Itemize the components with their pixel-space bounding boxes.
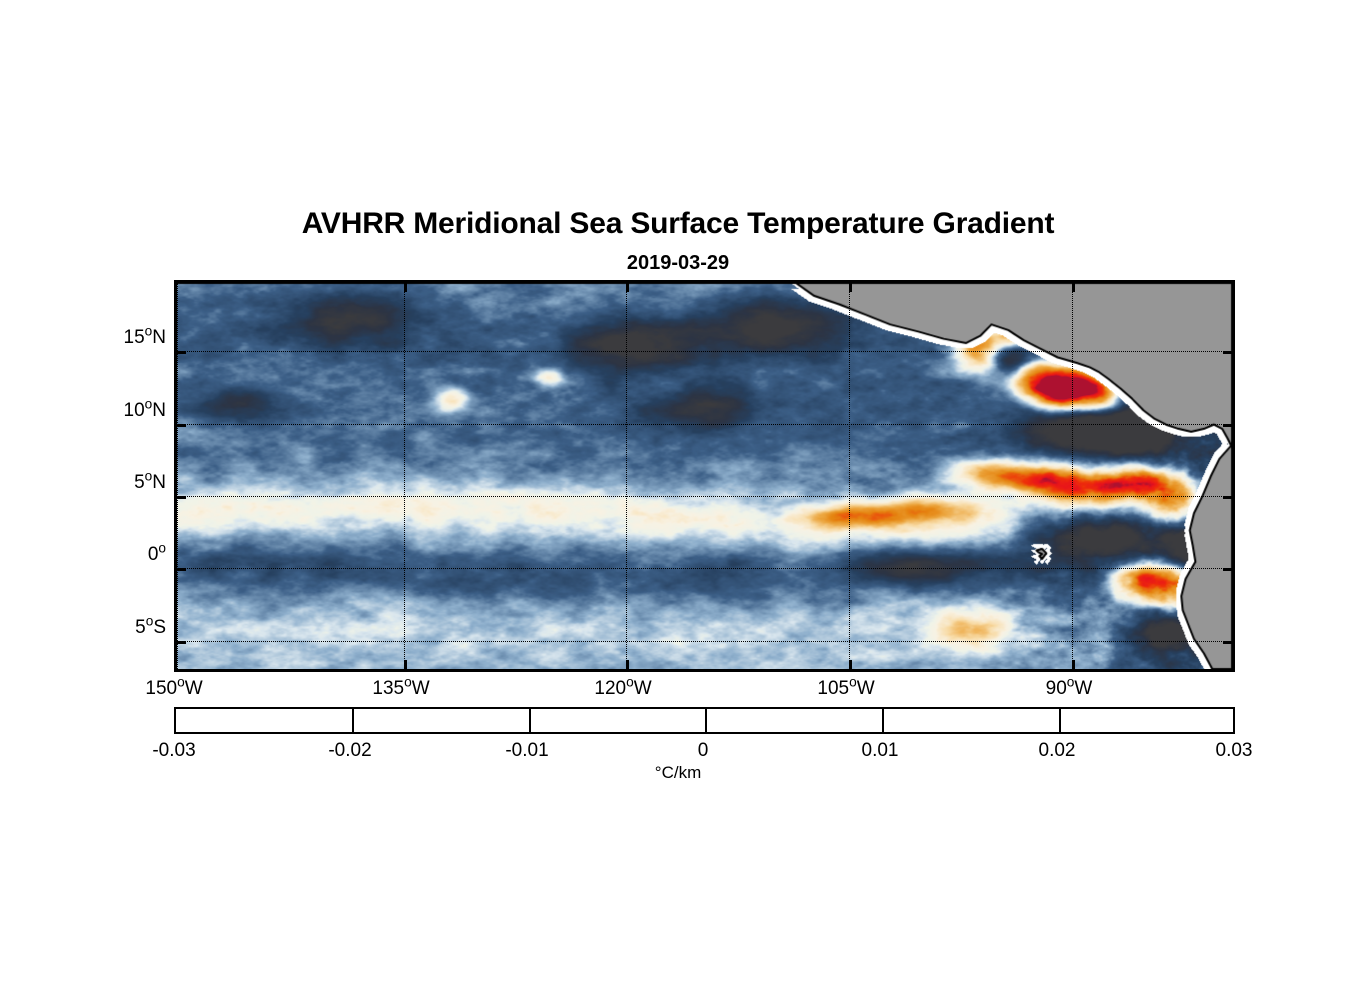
colorbar-tick-0.01	[882, 709, 884, 732]
colorbar-unit-label: °C/km	[0, 763, 1356, 783]
xtick-label-120w: 120oW	[543, 678, 703, 700]
ytick-right-0	[1223, 568, 1233, 571]
xtick-label-150w: 150oW	[94, 678, 254, 700]
colorbar-label-0.02: 0.02	[987, 740, 1127, 762]
colorbar-tick-0.02	[1059, 709, 1061, 732]
colorbar-label--0.03: -0.03	[104, 740, 244, 762]
colorbar-tick-0	[705, 709, 707, 732]
ytick-label-15n: 15oN	[46, 327, 166, 349]
colorbar-tick--0.02	[352, 709, 354, 732]
ytick-label-0: 0o	[46, 544, 166, 566]
xtick-label-135w: 135oW	[321, 678, 481, 700]
xtick-90w	[1072, 660, 1075, 670]
figure-canvas: AVHRR Meridional Sea Surface Temperature…	[0, 0, 1356, 1000]
xtick-top-105w	[849, 282, 852, 292]
xtick-label-90w: 90oW	[989, 678, 1149, 700]
colorbar-tick--0.01	[529, 709, 531, 732]
ytick-0	[176, 568, 186, 571]
colorbar-label--0.02: -0.02	[280, 740, 420, 762]
ytick-right-5s	[1223, 641, 1233, 644]
ytick-label-5s: 5oS	[46, 617, 166, 639]
xtick-label-105w: 105oW	[766, 678, 926, 700]
ytick-15n	[176, 351, 186, 354]
page-title: AVHRR Meridional Sea Surface Temperature…	[0, 207, 1356, 241]
xtick-120w	[626, 660, 629, 670]
xtick-135w	[404, 660, 407, 670]
xtick-105w	[849, 660, 852, 670]
ytick-10n	[176, 424, 186, 427]
ytick-5n	[176, 496, 186, 499]
map-axes[interactable]	[174, 280, 1235, 672]
colorbar-label-0.03: 0.03	[1164, 740, 1304, 762]
xtick-top-135w	[404, 282, 407, 292]
figure-subtitle: 2019-03-29	[0, 252, 1356, 275]
colorbar[interactable]	[174, 707, 1235, 734]
ytick-right-5n	[1223, 496, 1233, 499]
ytick-label-10n: 10oN	[46, 400, 166, 422]
colorbar-label-0: 0	[633, 740, 773, 762]
ytick-5s	[176, 641, 186, 644]
ytick-right-10n	[1223, 424, 1233, 427]
sst-gradient-heatmap	[177, 283, 1232, 669]
colorbar-label--0.01: -0.01	[457, 740, 597, 762]
ytick-right-15n	[1223, 351, 1233, 354]
xtick-top-120w	[626, 282, 629, 292]
colorbar-label-0.01: 0.01	[810, 740, 950, 762]
ytick-label-5n: 5oN	[46, 472, 166, 494]
xtick-top-90w	[1072, 282, 1075, 292]
